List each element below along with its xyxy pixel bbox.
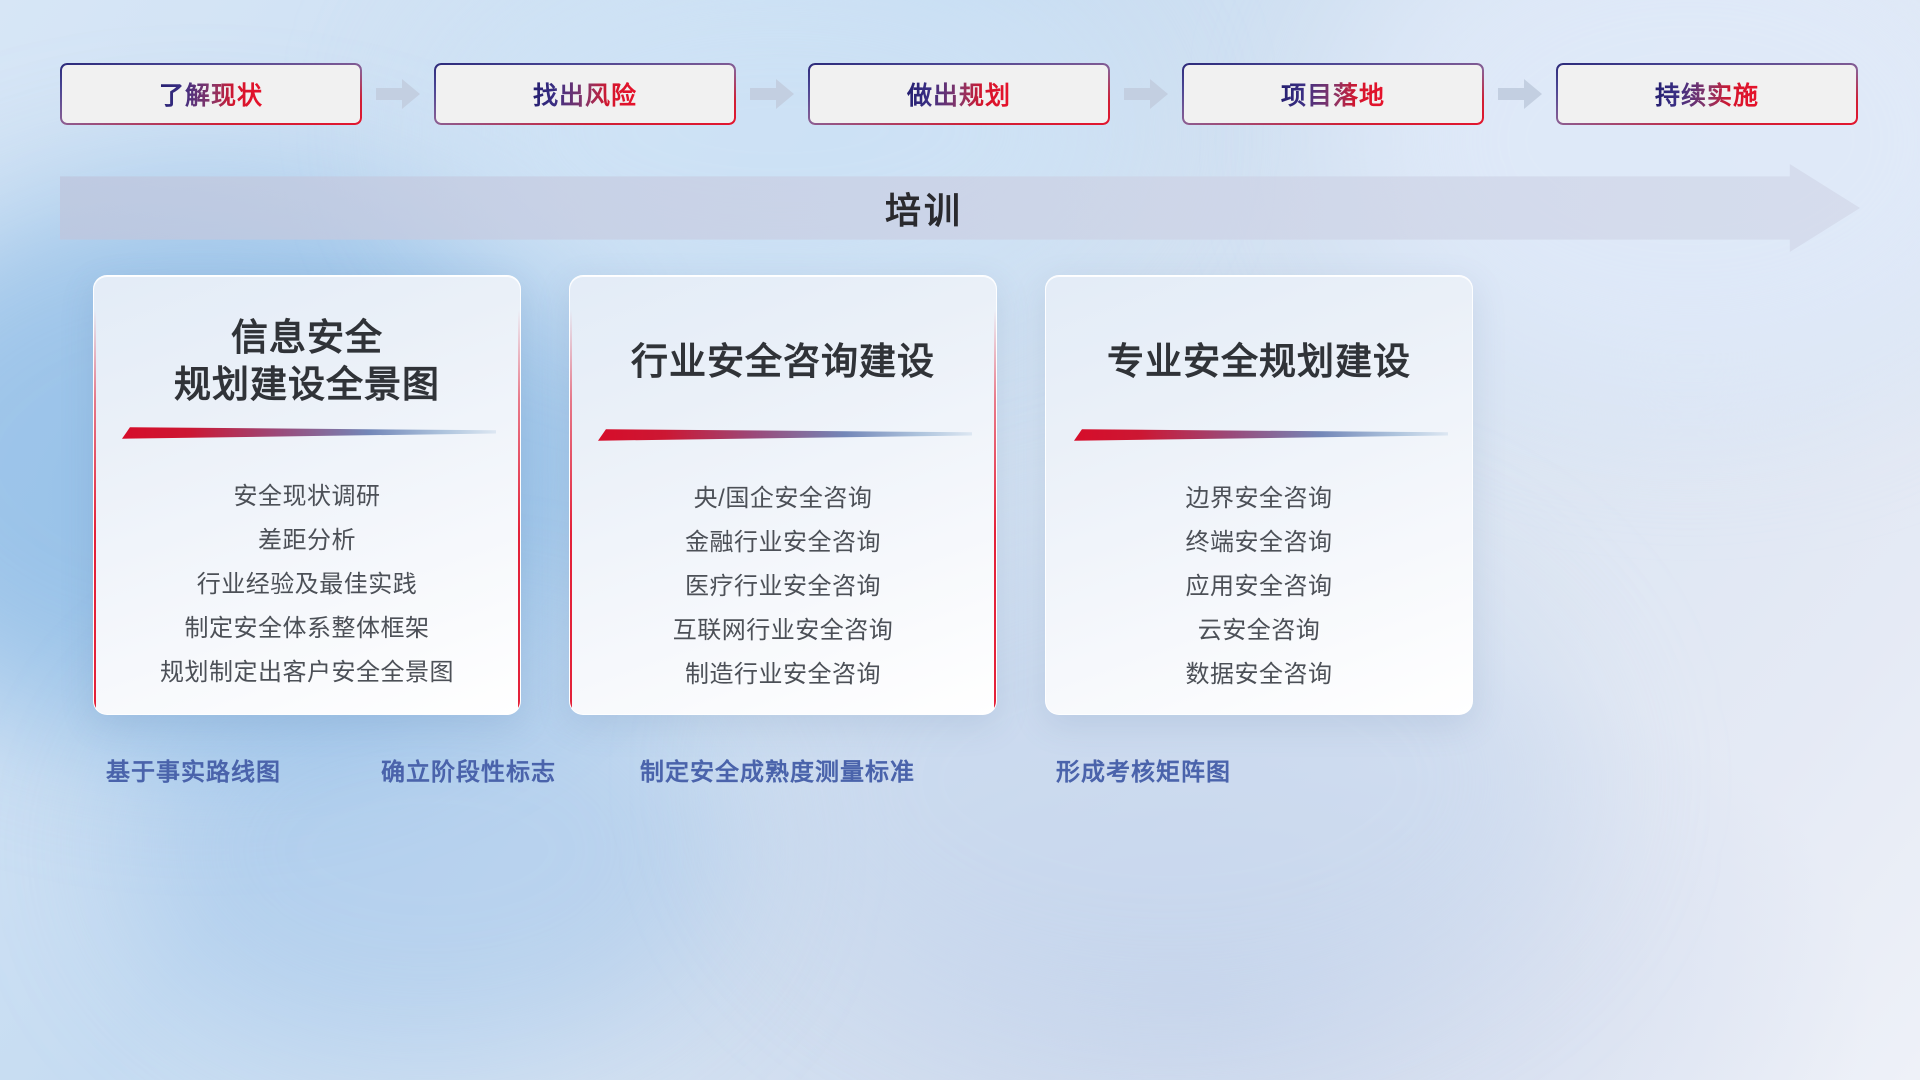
step-label-1: 了解现状 — [159, 76, 263, 112]
list-item: 差距分析 — [112, 519, 502, 563]
step-arrow-2 — [736, 63, 808, 125]
card-title-1-line1: 信息安全 — [231, 317, 383, 358]
list-item: 制定安全体系整体框架 — [112, 607, 502, 651]
step-box-5[interactable]: 持续实施 — [1556, 63, 1858, 125]
list-item: 医疗行业安全咨询 — [588, 565, 978, 609]
list-item: 规划制定出客户安全全景图 — [112, 651, 502, 695]
step-box-4[interactable]: 项目落地 — [1182, 63, 1484, 125]
list-item: 央/国企安全咨询 — [588, 477, 978, 521]
list-item: 制造行业安全咨询 — [588, 653, 978, 697]
step-arrow-3 — [1110, 63, 1182, 125]
process-step-flow: 了解现状 找出风险 做出规划 项目落地 — [60, 63, 1860, 125]
card-divider-3 — [1070, 427, 1448, 457]
card-title-1: 信息安全规划建设全景图 — [94, 314, 520, 409]
card-industry-security-consulting[interactable]: 行业安全咨询建设 — [569, 275, 997, 715]
footer-label-2: 确立阶段性标志 — [381, 752, 556, 787]
step-label-2: 找出风险 — [533, 76, 637, 112]
step-label-4: 项目落地 — [1281, 76, 1385, 112]
banner-label: 培训 — [60, 164, 1788, 252]
list-item: 数据安全咨询 — [1064, 653, 1454, 697]
list-item: 行业经验及最佳实践 — [112, 563, 502, 607]
footer-label-4: 形成考核矩阵图 — [1056, 752, 1231, 787]
step-arrow-1 — [362, 63, 434, 125]
card-list-3: 边界安全咨询 终端安全咨询 应用安全咨询 云安全咨询 数据安全咨询 — [1046, 477, 1472, 697]
step-arrow-4 — [1484, 63, 1556, 125]
list-item: 云安全咨询 — [1064, 609, 1454, 653]
card-title-3: 专业安全规划建设 — [1046, 338, 1472, 385]
training-banner: 培训 — [60, 164, 1860, 252]
slide-canvas: 了解现状 找出风险 做出规划 项目落地 — [0, 0, 1920, 1080]
step-label-5: 持续实施 — [1655, 76, 1759, 112]
list-item: 终端安全咨询 — [1064, 521, 1454, 565]
list-item: 应用安全咨询 — [1064, 565, 1454, 609]
card-professional-security-planning[interactable]: 专业安全规划建设 — [1045, 275, 1473, 715]
footer-label-3: 制定安全成熟度测量标准 — [640, 752, 915, 787]
card-divider-2 — [594, 427, 972, 457]
list-item: 互联网行业安全咨询 — [588, 609, 978, 653]
list-item: 边界安全咨询 — [1064, 477, 1454, 521]
list-item: 金融行业安全咨询 — [588, 521, 978, 565]
footer-label-1: 基于事实路线图 — [106, 752, 281, 787]
card-list-2: 央/国企安全咨询 金融行业安全咨询 医疗行业安全咨询 互联网行业安全咨询 制造行… — [570, 477, 996, 697]
step-box-3[interactable]: 做出规划 — [808, 63, 1110, 125]
step-box-1[interactable]: 了解现状 — [60, 63, 362, 125]
step-box-2[interactable]: 找出风险 — [434, 63, 736, 125]
card-group: 信息安全规划建设全景图 — [93, 275, 1533, 715]
step-label-3: 做出规划 — [907, 76, 1011, 112]
list-item: 安全现状调研 — [112, 475, 502, 519]
background-blob — [430, 0, 1130, 320]
card-divider-1 — [118, 425, 496, 455]
card-title-2: 行业安全咨询建设 — [570, 338, 996, 385]
card-information-security-blueprint[interactable]: 信息安全规划建设全景图 — [93, 275, 521, 715]
card-title-1-line2: 规划建设全景图 — [174, 364, 440, 405]
card-list-1: 安全现状调研 差距分析 行业经验及最佳实践 制定安全体系整体框架 规划制定出客户… — [94, 475, 520, 695]
